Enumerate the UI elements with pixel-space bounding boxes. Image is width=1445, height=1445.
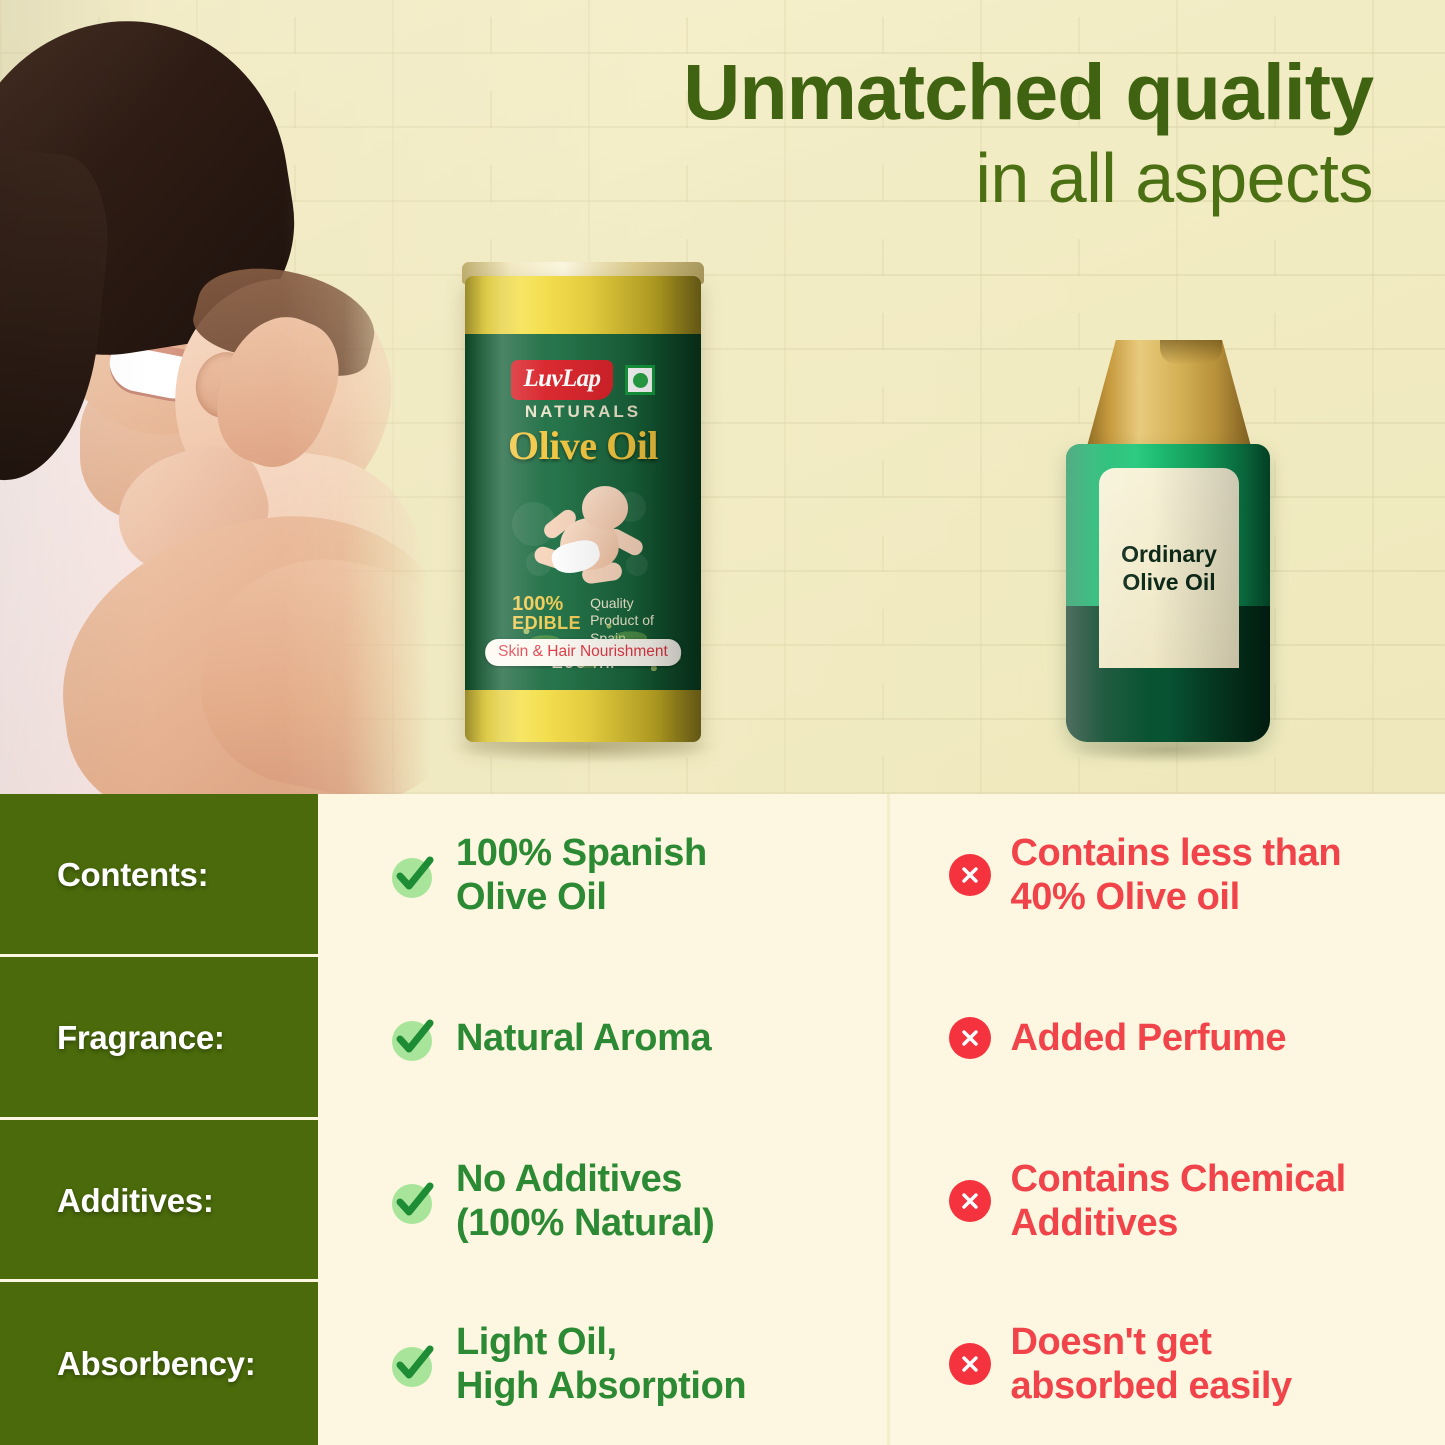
bottle-gold-cap bbox=[1086, 340, 1252, 450]
row-con-cell: Added Perfume bbox=[887, 957, 1445, 1120]
veg-dot bbox=[633, 373, 648, 388]
bottle-label-line-1: Ordinary bbox=[1121, 540, 1217, 568]
row-con-text: Contains less than 40% Olive oil bbox=[1011, 831, 1342, 919]
infographic-page: Unmatched quality in all aspects bbox=[0, 0, 1445, 1445]
cross-icon bbox=[949, 1343, 991, 1385]
cross-icon bbox=[949, 1017, 991, 1059]
row-con-cell: Contains less than 40% Olive oil bbox=[887, 794, 1445, 957]
row-pro-text: Light Oil, High Absorption bbox=[456, 1320, 746, 1408]
row-con-cell: Doesn't get absorbed easily bbox=[887, 1282, 1445, 1445]
cross-icon bbox=[949, 1180, 991, 1222]
row-label: Absorbency: bbox=[57, 1345, 255, 1383]
table-row: Contents: 100% Spanish Olive Oil Contain… bbox=[0, 794, 1445, 957]
row-pro-text: No Additives (100% Natural) bbox=[456, 1157, 714, 1245]
check-icon bbox=[390, 1341, 436, 1387]
tin-body: LuvLap NATURALS Olive Oil bbox=[465, 276, 701, 742]
ordinary-olive-oil-bottle: Ordinary Olive Oil bbox=[1062, 340, 1274, 756]
row-label-cell: Additives: bbox=[0, 1120, 318, 1283]
row-pro-cell: Natural Aroma bbox=[318, 957, 887, 1120]
row-con-text: Contains Chemical Additives bbox=[1011, 1157, 1346, 1245]
bottle-label-text: Ordinary Olive Oil bbox=[1121, 540, 1217, 596]
row-label-cell: Fragrance: bbox=[0, 957, 318, 1120]
row-label-cell: Contents: bbox=[0, 794, 318, 957]
baby-illustration bbox=[508, 476, 658, 596]
row-label: Fragrance: bbox=[57, 1019, 225, 1057]
row-pro-cell: Light Oil, High Absorption bbox=[318, 1282, 887, 1445]
photo-shading bbox=[0, 0, 430, 794]
table-row: Fragrance: Natural Aroma Added Perfume bbox=[0, 957, 1445, 1120]
headline-line-1: Unmatched quality bbox=[683, 52, 1373, 133]
row-label: Contents: bbox=[57, 856, 208, 894]
cross-icon bbox=[949, 854, 991, 896]
row-label: Additives: bbox=[57, 1182, 214, 1220]
tin-product-name: Olive Oil bbox=[465, 422, 701, 469]
check-icon bbox=[390, 852, 436, 898]
bottle-body: Ordinary Olive Oil bbox=[1066, 444, 1270, 742]
tin-benefit-pill: Skin & Hair Nourishment bbox=[485, 639, 681, 666]
row-label-cell: Absorbency: bbox=[0, 1282, 318, 1445]
comparison-table: Contents: 100% Spanish Olive Oil Contain… bbox=[0, 794, 1445, 1445]
luvlap-olive-oil-tin: LuvLap NATURALS Olive Oil bbox=[455, 262, 710, 754]
check-icon bbox=[390, 1015, 436, 1061]
tin-sub-brand: NATURALS bbox=[465, 402, 701, 422]
row-con-cell: Contains Chemical Additives bbox=[887, 1120, 1445, 1283]
row-pro-text: 100% Spanish Olive Oil bbox=[456, 831, 707, 919]
luvlap-logo: LuvLap bbox=[511, 360, 614, 400]
bottle-label-line-2: Olive Oil bbox=[1121, 568, 1217, 596]
vegetarian-mark-icon bbox=[625, 365, 655, 395]
row-con-text: Doesn't get absorbed easily bbox=[1011, 1320, 1292, 1408]
check-icon bbox=[390, 1178, 436, 1224]
row-pro-text: Natural Aroma bbox=[456, 1016, 711, 1060]
row-pro-cell: No Additives (100% Natural) bbox=[318, 1120, 887, 1283]
table-row: Absorbency: Light Oil, High Absorption D… bbox=[0, 1282, 1445, 1445]
bottle-label: Ordinary Olive Oil bbox=[1099, 468, 1239, 668]
headline-block: Unmatched quality in all aspects bbox=[683, 52, 1373, 217]
row-con-text: Added Perfume bbox=[1011, 1016, 1287, 1060]
bottle-cap-notch bbox=[1160, 340, 1222, 364]
hero-section: Unmatched quality in all aspects bbox=[0, 0, 1445, 794]
mother-and-baby-photo bbox=[0, 0, 430, 794]
table-row: Additives: No Additives (100% Natural) C… bbox=[0, 1120, 1445, 1283]
tin-brand-row: LuvLap bbox=[465, 360, 701, 400]
headline-line-2: in all aspects bbox=[683, 139, 1373, 217]
baby-illustration-head bbox=[582, 486, 628, 530]
row-pro-cell: 100% Spanish Olive Oil bbox=[318, 794, 887, 957]
